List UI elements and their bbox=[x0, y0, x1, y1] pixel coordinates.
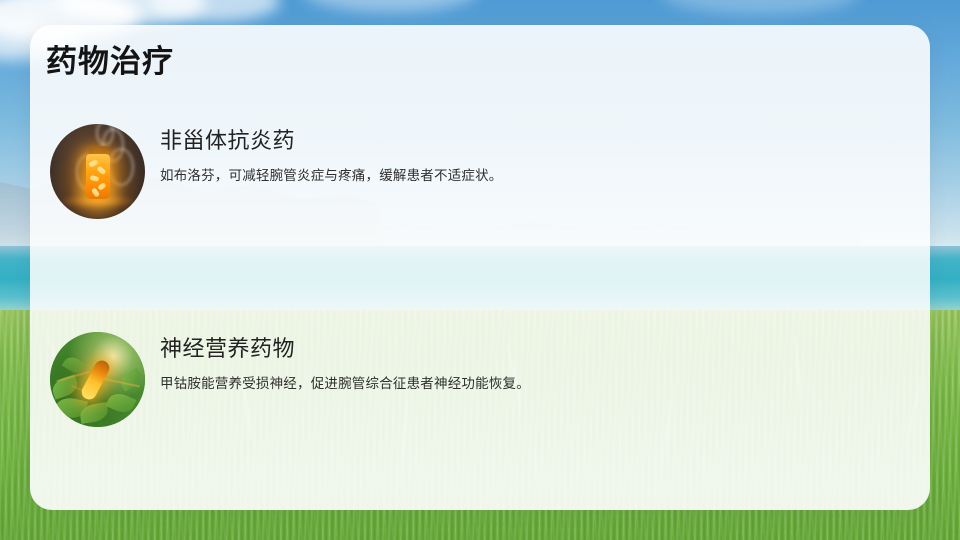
list-item-title: 非甾体抗炎药 bbox=[160, 124, 870, 155]
list-item[interactable]: 非甾体抗炎药 如布洛芬，可减轻腕管炎症与疼痛，缓解患者不适症状。 bbox=[50, 124, 870, 220]
list-item-text: 非甾体抗炎药 如布洛芬，可减轻腕管炎症与疼痛，缓解患者不适症状。 bbox=[160, 124, 870, 186]
list-item-title: 神经营养药物 bbox=[160, 332, 870, 363]
list-item-description: 如布洛芬，可减轻腕管炎症与疼痛，缓解患者不适症状。 bbox=[160, 155, 870, 187]
pill-bottle-icon bbox=[50, 124, 145, 219]
slide-root: 药物治疗 非甾体抗炎药 如布洛芬，可减轻腕管炎症与 bbox=[0, 0, 960, 540]
content-card bbox=[30, 25, 930, 510]
page-title: 药物治疗 bbox=[46, 44, 174, 80]
capsule-leaf-icon bbox=[50, 332, 145, 427]
list-item[interactable]: 神经营养药物 甲钴胺能营养受损神经，促进腕管综合征患者神经功能恢复。 bbox=[50, 332, 870, 428]
list-item-description: 甲钴胺能营养受损神经，促进腕管综合征患者神经功能恢复。 bbox=[160, 363, 870, 395]
list-item-text: 神经营养药物 甲钴胺能营养受损神经，促进腕管综合征患者神经功能恢复。 bbox=[160, 332, 870, 394]
